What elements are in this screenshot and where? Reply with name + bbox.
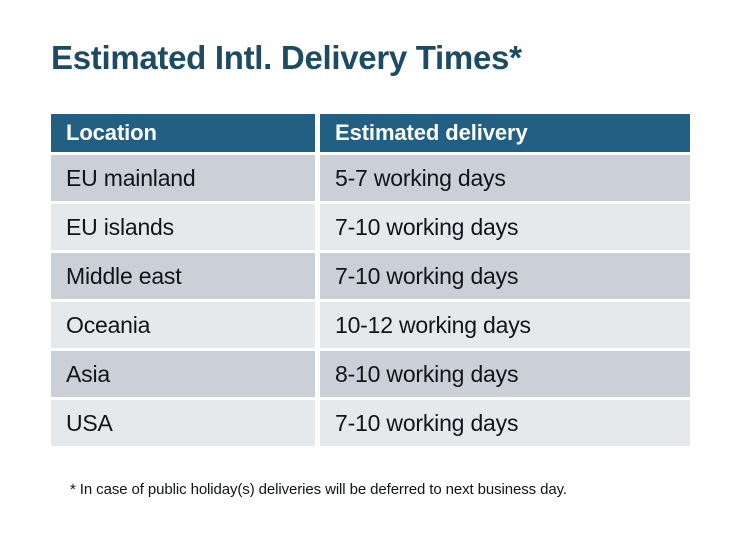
cell-estimated-delivery: 7-10 working days (320, 253, 690, 299)
table-row: Asia 8-10 working days (51, 351, 690, 397)
page-title: Estimated Intl. Delivery Times* (51, 38, 522, 78)
table-header-row: Location Estimated delivery (51, 114, 690, 152)
table-row: Oceania 10-12 working days (51, 302, 690, 348)
table-row: USA 7-10 working days (51, 400, 690, 446)
cell-location: Asia (51, 351, 315, 397)
column-header-estimated-delivery: Estimated delivery (320, 114, 690, 152)
table-row: Middle east 7-10 working days (51, 253, 690, 299)
table-row: EU mainland 5-7 working days (51, 155, 690, 201)
cell-location: EU islands (51, 204, 315, 250)
table-row: EU islands 7-10 working days (51, 204, 690, 250)
cell-estimated-delivery: 5-7 working days (320, 155, 690, 201)
delivery-times-card: Estimated Intl. Delivery Times* Location… (0, 0, 745, 536)
cell-estimated-delivery: 8-10 working days (320, 351, 690, 397)
cell-location: Oceania (51, 302, 315, 348)
footnote-text: * In case of public holiday(s) deliverie… (70, 480, 567, 500)
cell-estimated-delivery: 10-12 working days (320, 302, 690, 348)
cell-estimated-delivery: 7-10 working days (320, 400, 690, 446)
delivery-times-table: Location Estimated delivery EU mainland … (51, 114, 690, 449)
cell-estimated-delivery: 7-10 working days (320, 204, 690, 250)
cell-location: Middle east (51, 253, 315, 299)
cell-location: EU mainland (51, 155, 315, 201)
column-header-location: Location (51, 114, 315, 152)
cell-location: USA (51, 400, 315, 446)
